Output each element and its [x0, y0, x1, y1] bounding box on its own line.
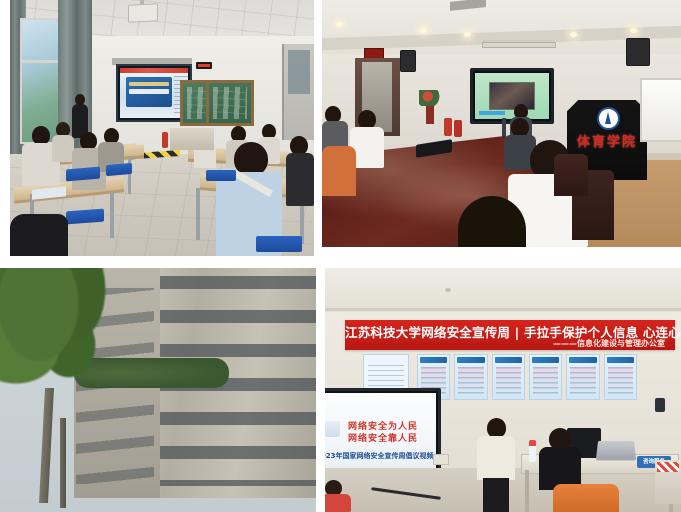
laptop[interactable] [596, 441, 636, 460]
photo-collage: 2023年 国家网络安全宣传周 [0, 0, 681, 512]
teacher-desk [170, 128, 214, 150]
photo-classroom: 2023年 国家网络安全宣传周 [10, 0, 314, 256]
person-attendee [322, 146, 356, 196]
photo-lobby-banner: 江苏科技大学网络安全宣传周 | 手拉手保护个人信息 心连心建设智慧科大 ———信… [325, 268, 681, 512]
tree-foliage [0, 268, 136, 444]
info-poster [492, 354, 525, 400]
info-poster [566, 354, 599, 400]
ceiling-downlight [420, 28, 427, 33]
fire-extinguisher [454, 120, 462, 137]
ceiling-downlight [336, 22, 343, 27]
photo-led-billboard: 2023年国家网络安全宣传周 网络安全为人民 网络安全靠人民 [0, 268, 316, 512]
screen-slogan-line-2: 网络安全靠人民 [348, 431, 418, 444]
person-student [52, 122, 74, 162]
classroom-door [282, 44, 314, 140]
person-standing [477, 418, 515, 512]
person-partial-left [325, 480, 351, 512]
banner-sub-text: ———信息化建设与管理办公室 [345, 338, 675, 349]
wall-speaker [400, 50, 416, 72]
slide-header-bar [120, 68, 188, 73]
slide-subtitle-text: 国家网络安全宣传周 [129, 89, 169, 94]
ceiling-downlight [570, 32, 577, 37]
ceiling-smoke-detector-icon [445, 288, 451, 292]
person-student [286, 136, 314, 206]
photo-meeting-room: 体育学院 [322, 0, 681, 247]
slide-title-text: 2023年 [129, 82, 169, 86]
side-table [655, 460, 681, 504]
water-bottle [529, 440, 536, 462]
projector [128, 3, 158, 23]
ceiling-downlight [630, 28, 637, 33]
chair [554, 154, 588, 196]
desk-leg [525, 470, 529, 512]
digital-clock [196, 62, 212, 69]
ceiling-edge [325, 308, 681, 311]
roller-screen [482, 42, 556, 48]
info-poster [454, 354, 487, 400]
access-control-panel[interactable] [655, 398, 665, 412]
fire-extinguisher [162, 132, 168, 148]
desk-leg [196, 188, 200, 240]
person-attendee-foreground [444, 196, 540, 247]
desk-leg [110, 192, 114, 238]
chair [206, 170, 236, 181]
whiteboard [640, 78, 681, 142]
chair [553, 484, 619, 512]
info-poster [604, 354, 637, 400]
tree-trunk [60, 418, 66, 508]
chair [66, 209, 104, 225]
school-logo-icon [597, 107, 620, 130]
chalkboard-right [206, 80, 254, 126]
ceiling-downlight [464, 32, 471, 37]
power-outlet[interactable] [433, 454, 449, 465]
wall-speaker [626, 38, 650, 66]
info-poster [529, 354, 562, 400]
person-foreground-bottom [10, 214, 68, 256]
fire-extinguisher [444, 118, 452, 136]
chair [106, 163, 132, 176]
notice-board [363, 354, 409, 392]
video-progress-bar[interactable] [479, 111, 505, 115]
poster-wall [417, 354, 637, 400]
chair [256, 236, 302, 252]
person-seated-staff [539, 428, 581, 490]
flower-stand [419, 90, 441, 124]
window-frame-bar [20, 60, 62, 63]
event-banner: 江苏科技大学网络安全宣传周 | 手拉手保护个人信息 心连心建设智慧科大 ———信… [345, 320, 675, 350]
event-logo-icon [325, 421, 340, 437]
screen-caption: 2023年国家网络安全宣传周倡议视频 [325, 451, 433, 461]
